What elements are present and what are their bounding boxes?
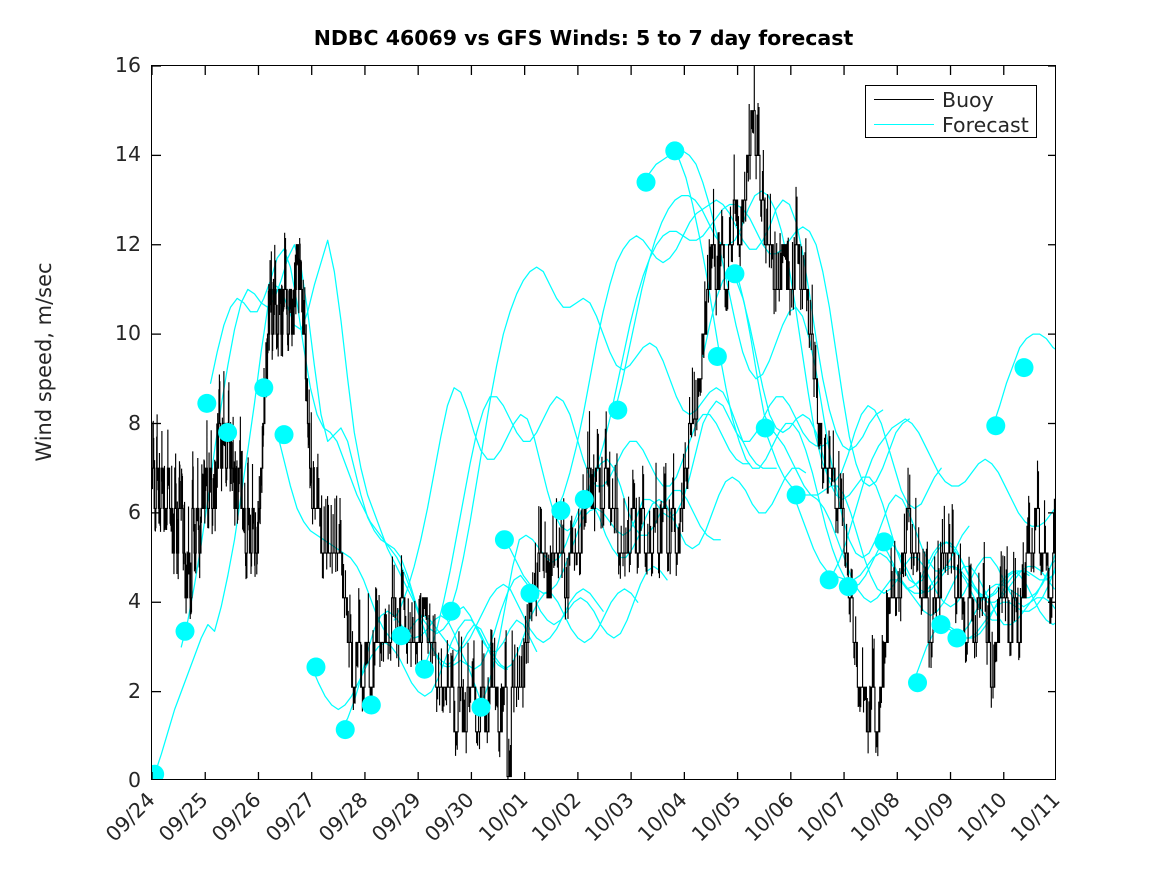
- forecast-marker: [520, 584, 539, 603]
- forecast-marker: [756, 418, 775, 437]
- forecast-marker: [415, 660, 434, 679]
- forecast-marker: [471, 698, 490, 717]
- forecast-marker: [306, 658, 325, 677]
- x-tick-label: 09/25: [156, 789, 212, 845]
- x-tick-label: 09/24: [102, 789, 158, 845]
- x-tick-label: 10/08: [848, 789, 904, 845]
- x-tick-label: 09/29: [368, 789, 424, 845]
- plot-canvas: [152, 66, 1056, 780]
- legend-item-forecast[interactable]: Forecast: [866, 112, 1038, 138]
- chart-title: NDBC 46069 vs GFS Winds: 5 to 7 day fore…: [0, 26, 1167, 50]
- y-tick-label: 16: [97, 55, 141, 76]
- y-tick-label: 6: [97, 502, 141, 523]
- x-tick-label: 10/04: [635, 789, 691, 845]
- forecast-marker: [1014, 358, 1033, 377]
- forecast-marker: [218, 423, 237, 442]
- x-tick-label: 10/09: [901, 789, 957, 845]
- y-axis-ticks: [152, 66, 1056, 780]
- forecast-marker: [986, 416, 1005, 435]
- forecast-marker: [275, 425, 294, 444]
- forecast-marker: [608, 401, 627, 420]
- forecast-marker: [931, 615, 950, 634]
- legend-label-buoy: Buoy: [942, 88, 994, 112]
- x-tick-label: 10/06: [741, 789, 797, 845]
- legend-label-forecast: Forecast: [942, 113, 1029, 137]
- x-tick-label: 09/28: [315, 789, 371, 845]
- forecast-marker: [152, 765, 164, 780]
- y-tick-label: 12: [97, 234, 141, 255]
- forecast-marker: [665, 141, 684, 160]
- y-tick-label: 8: [97, 413, 141, 434]
- forecast-marker: [362, 696, 381, 715]
- legend-swatch-buoy: [874, 99, 934, 100]
- x-tick-label: 10/03: [581, 789, 637, 845]
- x-axis-ticks: [152, 66, 1056, 780]
- forecast-marker: [442, 602, 461, 621]
- x-tick-label: 09/30: [422, 789, 478, 845]
- forecast-marker: [908, 673, 927, 692]
- plot-area: [151, 65, 1056, 780]
- legend[interactable]: Buoy Forecast: [865, 85, 1037, 138]
- y-axis-label: Wind speed, m/sec: [32, 112, 56, 612]
- forecast-marker: [787, 486, 806, 505]
- y-tick-label: 2: [97, 681, 141, 702]
- forecast-marker: [176, 622, 195, 641]
- x-tick-label: 09/27: [262, 789, 318, 845]
- chart-figure: NDBC 46069 vs GFS Winds: 5 to 7 day fore…: [0, 0, 1167, 875]
- forecast-marker: [197, 394, 216, 413]
- forecast-marker: [575, 490, 594, 509]
- x-tick-label: 10/02: [528, 789, 584, 845]
- forecast-marker: [254, 378, 273, 397]
- forecast-marker: [947, 629, 966, 648]
- y-tick-label: 4: [97, 591, 141, 612]
- forecast-marker: [839, 577, 858, 596]
- forecast-marker: [725, 264, 744, 283]
- y-tick-label: 0: [97, 770, 141, 791]
- forecast-marker: [336, 720, 355, 739]
- buoy-series-line: [152, 66, 1056, 780]
- forecast-marker: [820, 570, 839, 589]
- forecast-marker: [392, 626, 411, 645]
- legend-swatch-forecast: [874, 124, 934, 125]
- forecast-marker: [637, 173, 656, 192]
- y-tick-label: 14: [97, 144, 141, 165]
- x-tick-label: 10/11: [1007, 789, 1063, 845]
- legend-item-buoy[interactable]: Buoy: [866, 87, 1038, 113]
- forecast-marker: [495, 530, 514, 549]
- x-tick-label: 10/05: [688, 789, 744, 845]
- x-tick-label: 10/10: [954, 789, 1010, 845]
- x-tick-label: 09/26: [209, 789, 265, 845]
- forecast-marker: [708, 347, 727, 366]
- x-tick-label: 10/07: [794, 789, 850, 845]
- y-tick-label: 10: [97, 323, 141, 344]
- forecast-marker: [551, 501, 570, 520]
- x-tick-label: 10/01: [475, 789, 531, 845]
- forecast-marker: [874, 532, 893, 551]
